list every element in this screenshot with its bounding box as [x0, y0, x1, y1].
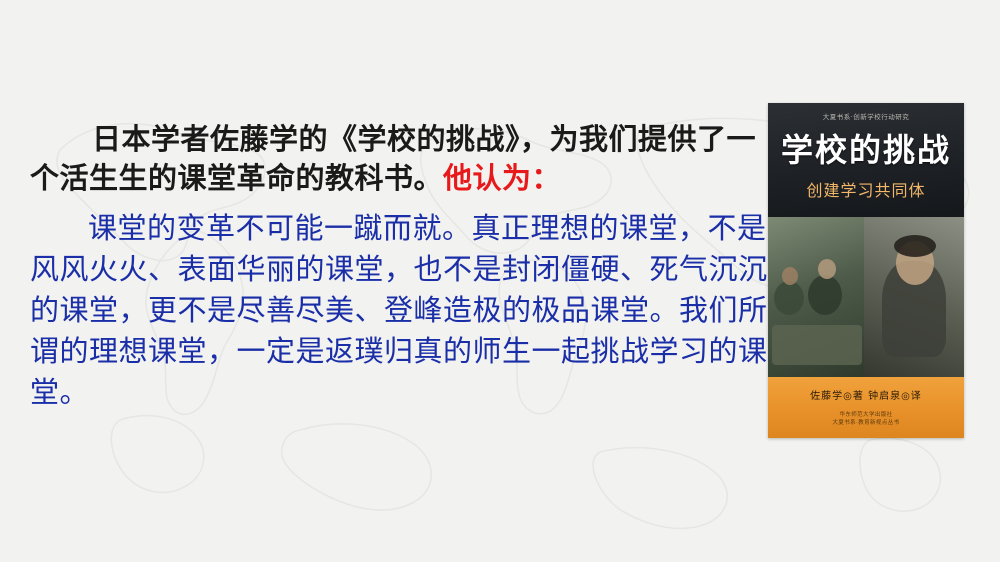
book-press-name: 华东师范大学出版社 [839, 412, 892, 418]
paragraph-one-accent: 他认为： [443, 161, 561, 195]
book-series-label: 大夏书系·创新学校行动研究 [768, 111, 964, 121]
body-text: 日本学者佐藤学的《学校的挑战》，为我们提供了一个活生生的课堂革命的教科书。他认为… [30, 120, 770, 414]
photo-student-portrait [864, 217, 964, 377]
book-press-line: 华东师范大学出版社 大夏书系·教育新视点丛书 [768, 411, 964, 428]
paragraph-two: 课堂的变革不可能一蹴而就。真正理想的课堂，不是风风火火、表面华丽的课堂，也不是封… [30, 208, 770, 414]
book-cover-image: 大夏书系·创新学校行动研究 学校的挑战 创建学习共同体 佐藤学◎著 钟启泉◎译 … [768, 103, 964, 438]
book-press-sub: 大夏书系·教育新视点丛书 [832, 420, 899, 426]
book-subtitle: 创建学习共同体 [768, 177, 964, 201]
book-author-line: 佐藤学◎著 钟启泉◎译 [768, 387, 964, 402]
book-title: 学校的挑战 [768, 125, 964, 171]
book-photo-strip [768, 217, 964, 377]
paragraph-one: 日本学者佐藤学的《学校的挑战》，为我们提供了一个活生生的课堂革命的教科书。他认为… [30, 120, 770, 198]
paragraph-one-lead: 日本学者佐藤学的《学校的挑战》，为我们提供了一个活生生的课堂革命的教科书。 [30, 122, 756, 195]
photo-classroom-students [768, 217, 864, 377]
slide-canvas: 日本学者佐藤学的《学校的挑战》，为我们提供了一个活生生的课堂革命的教科书。他认为… [0, 0, 1000, 562]
